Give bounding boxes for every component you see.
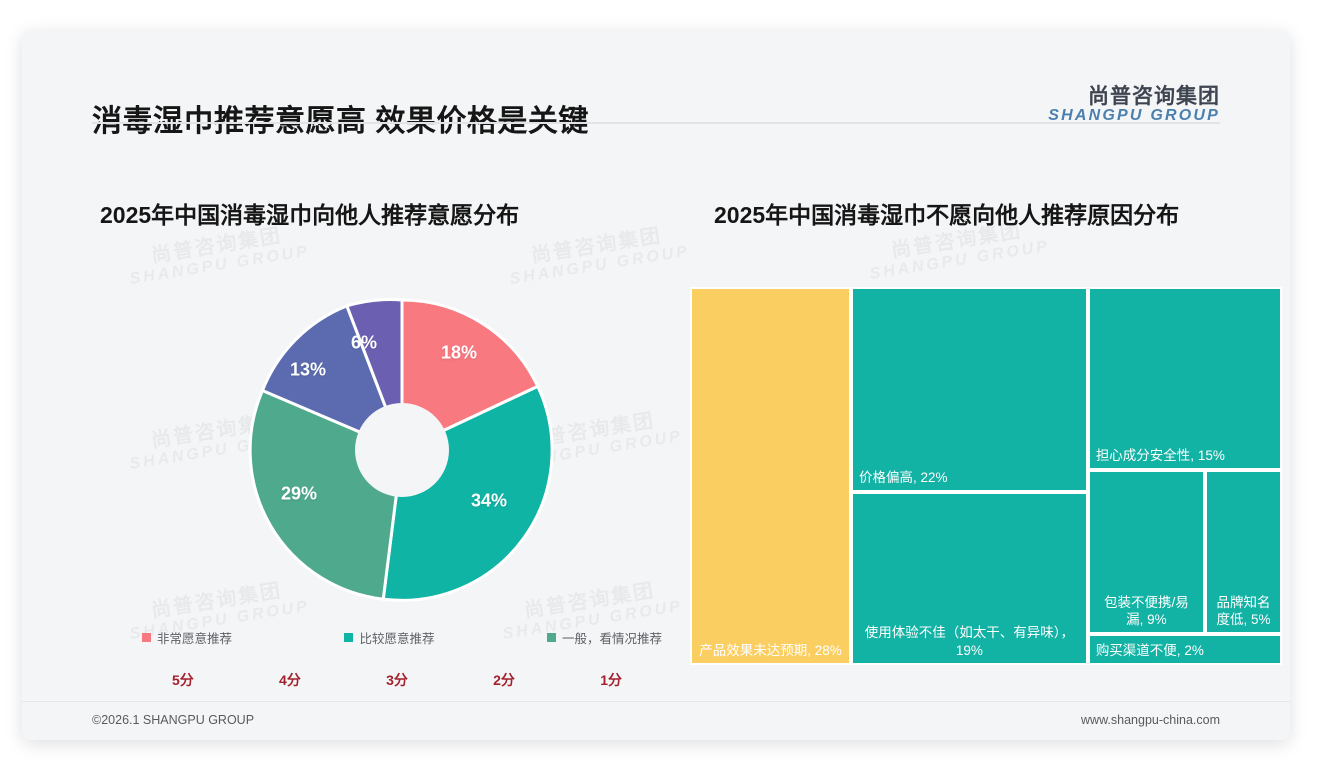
slide-canvas: 尚普咨询集团 SHANGPU GROUP 尚普咨询集团 SHANGPU GROU… (22, 30, 1290, 740)
treemap-cell[interactable]: 品牌知名度低, 5% (1205, 470, 1282, 634)
legend-swatch-icon (142, 633, 151, 642)
brand-logo: 尚普咨询集团 SHANGPU GROUP (1048, 86, 1220, 125)
slide-footer: ©2026.1 SHANGPU GROUP www.shangpu-china.… (22, 701, 1290, 740)
legend-label: 一般，看情况推荐 (562, 628, 662, 647)
legend-swatch-icon (547, 633, 556, 642)
treemap-cell-label: 使用体验不佳（如太干、有异味），19% (859, 624, 1080, 659)
slide-header: 消毒湿巾推荐意愿高 效果价格是关键 尚普咨询集团 SHANGPU GROUP (22, 30, 1290, 122)
footer-website[interactable]: www.shangpu-china.com (1081, 713, 1220, 727)
treemap-cell-label: 担心成分安全性, 15% (1096, 447, 1274, 464)
legend-item[interactable]: 非常愿意推荐 (142, 628, 232, 647)
score-axis: 5分 4分 3分 2分 1分 (172, 670, 622, 690)
treemap-cell-label: 品牌知名度低, 5% (1213, 594, 1274, 629)
legend-label: 比较愿意推荐 (359, 628, 434, 647)
donut-value-label: 29% (281, 484, 317, 505)
treemap-cell-label: 产品效果未达预期, 28% (698, 642, 843, 659)
treemap-cell[interactable]: 担心成分安全性, 15% (1088, 287, 1282, 470)
score-label-4: 4分 (279, 670, 301, 690)
score-label-1: 1分 (600, 670, 622, 690)
treemap-cell[interactable]: 价格偏高, 22% (851, 287, 1088, 492)
brand-logo-cn: 尚普咨询集团 (1048, 86, 1220, 108)
right-chart-title: 2025年中国消毒湿巾不愿向他人推荐原因分布 (714, 196, 1179, 230)
watermark-cn: 尚普咨询集团 (505, 221, 688, 272)
watermark-en: SHANGPU GROUP (868, 238, 1051, 284)
donut-value-label: 18% (441, 343, 477, 364)
donut-value-label: 6% (351, 333, 377, 354)
score-label-5: 5分 (172, 670, 194, 690)
treemap-cell[interactable]: 使用体验不佳（如太干、有异味），19% (851, 492, 1088, 665)
legend-item[interactable]: 比较愿意推荐 (344, 628, 434, 647)
donut-chart: 18% 34% 29% 13% 6% (227, 275, 577, 625)
score-label-3: 3分 (386, 670, 408, 690)
left-chart-title: 2025年中国消毒湿巾向他人推荐意愿分布 (100, 196, 519, 230)
footer-copyright: ©2026.1 SHANGPU GROUP (92, 713, 254, 727)
treemap-cell-label: 包装不便携/易漏, 9% (1096, 594, 1197, 629)
legend-label: 非常愿意推荐 (157, 628, 232, 647)
page-title: 消毒湿巾推荐意愿高 效果价格是关键 (92, 96, 589, 140)
header-divider (92, 122, 1220, 124)
treemap-chart: 产品效果未达预期, 28% 价格偏高, 22% 使用体验不佳（如太干、有异味），… (690, 287, 1282, 665)
donut-svg (227, 275, 577, 625)
legend-item[interactable]: 一般，看情况推荐 (547, 628, 662, 647)
treemap-cell[interactable]: 购买渠道不便, 2% (1088, 634, 1282, 665)
treemap-cell-label: 购买渠道不便, 2% (1096, 642, 1274, 659)
score-label-2: 2分 (493, 670, 515, 690)
legend-swatch-icon (344, 633, 353, 642)
treemap-cell-label: 价格偏高, 22% (859, 469, 1080, 486)
donut-value-label: 34% (471, 491, 507, 512)
treemap-cell[interactable]: 包装不便携/易漏, 9% (1088, 470, 1205, 634)
treemap-cell[interactable]: 产品效果未达预期, 28% (690, 287, 851, 665)
donut-legend: 非常愿意推荐 比较愿意推荐 一般，看情况推荐 (142, 628, 662, 647)
donut-value-label: 13% (290, 360, 326, 381)
donut-hole (355, 403, 449, 497)
